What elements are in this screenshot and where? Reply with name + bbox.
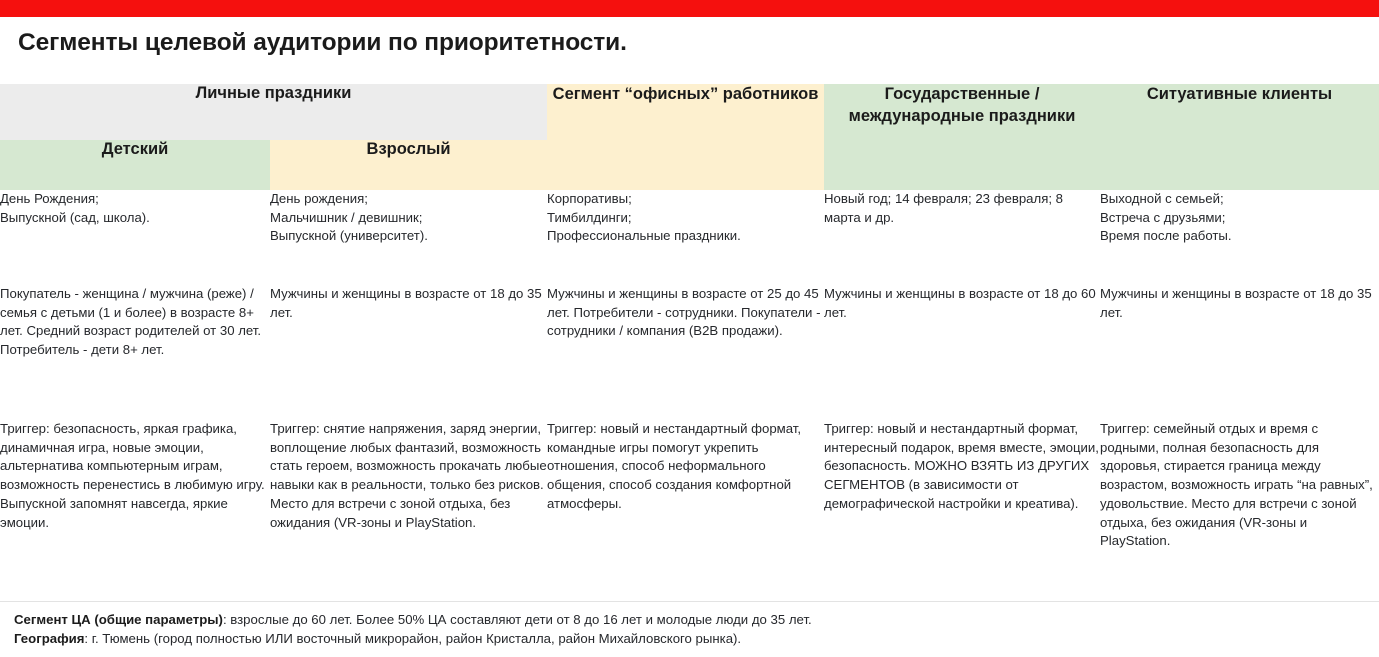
slide-root: Сегменты целевой аудитории по приоритетн… <box>0 0 1379 657</box>
cell-demographics-office: Мужчины и женщины в возрасте от 25 до 45… <box>547 285 824 420</box>
cell-triggers-situational: Триггер: семейный отдых и время с родным… <box>1100 420 1379 601</box>
cell-demographics-children: Покупатель - женщина / мужчина (реже) / … <box>0 285 270 420</box>
page-title: Сегменты целевой аудитории по приоритетн… <box>18 29 627 57</box>
table-row: Покупатель - женщина / мужчина (реже) / … <box>0 285 1379 420</box>
table-row: День Рождения; Выпускной (сад, школа). Д… <box>0 190 1379 285</box>
column-header-adult: Взрослый <box>270 140 547 190</box>
audience-segments-table: Личные праздники Сегмент “офисных” работ… <box>0 84 1379 602</box>
footer-label-geography: География <box>14 631 84 646</box>
column-header-situational: Ситуативные клиенты <box>1100 84 1379 190</box>
cell-triggers-children: Триггер: безопасность, яркая графика, ди… <box>0 420 270 601</box>
footer-notes: Сегмент ЦА (общие параметры): взрослые д… <box>14 610 1374 648</box>
table-group-header-row: Личные праздники Сегмент “офисных” работ… <box>0 84 1379 140</box>
table-row: Триггер: безопасность, яркая графика, ди… <box>0 420 1379 601</box>
group-header-personal-holidays: Личные праздники <box>0 84 547 140</box>
cell-triggers-office: Триггер: новый и нестандартный формат, к… <box>547 420 824 601</box>
footer-text-geography: : г. Тюмень (город полностью ИЛИ восточн… <box>84 631 741 646</box>
cell-demographics-adult: Мужчины и женщины в возрасте от 18 до 35… <box>270 285 547 420</box>
footer-line-geography: География: г. Тюмень (город полностью ИЛ… <box>14 629 1374 648</box>
footer-label-segment: Сегмент ЦА (общие параметры) <box>14 612 223 627</box>
cell-occasions-state: Новый год; 14 февраля; 23 февраля; 8 мар… <box>824 190 1100 285</box>
cell-demographics-situational: Мужчины и женщины в возрасте от 18 до 35… <box>1100 285 1379 420</box>
cell-triggers-state: Триггер: новый и нестандартный формат, и… <box>824 420 1100 601</box>
cell-triggers-adult: Триггер: снятие напряжения, заряд энерги… <box>270 420 547 601</box>
accent-bar <box>0 0 1379 17</box>
footer-line-segment: Сегмент ЦА (общие параметры): взрослые д… <box>14 610 1374 629</box>
cell-occasions-situational: Выходной с семьей; Встреча с друзьями; В… <box>1100 190 1379 285</box>
cell-demographics-state: Мужчины и женщины в возрасте от 18 до 60… <box>824 285 1100 420</box>
cell-occasions-children: День Рождения; Выпускной (сад, школа). <box>0 190 270 285</box>
column-header-office: Сегмент “офисных” работников <box>547 84 824 190</box>
cell-occasions-adult: День рождения; Мальчишник / девишник; Вы… <box>270 190 547 285</box>
footer-text-segment: : взрослые до 60 лет. Более 50% ЦА соста… <box>223 612 812 627</box>
cell-occasions-office: Корпоративы; Тимбилдинги; Профессиональн… <box>547 190 824 285</box>
column-header-state: Государственные / международные праздник… <box>824 84 1100 190</box>
column-header-children: Детский <box>0 140 270 190</box>
